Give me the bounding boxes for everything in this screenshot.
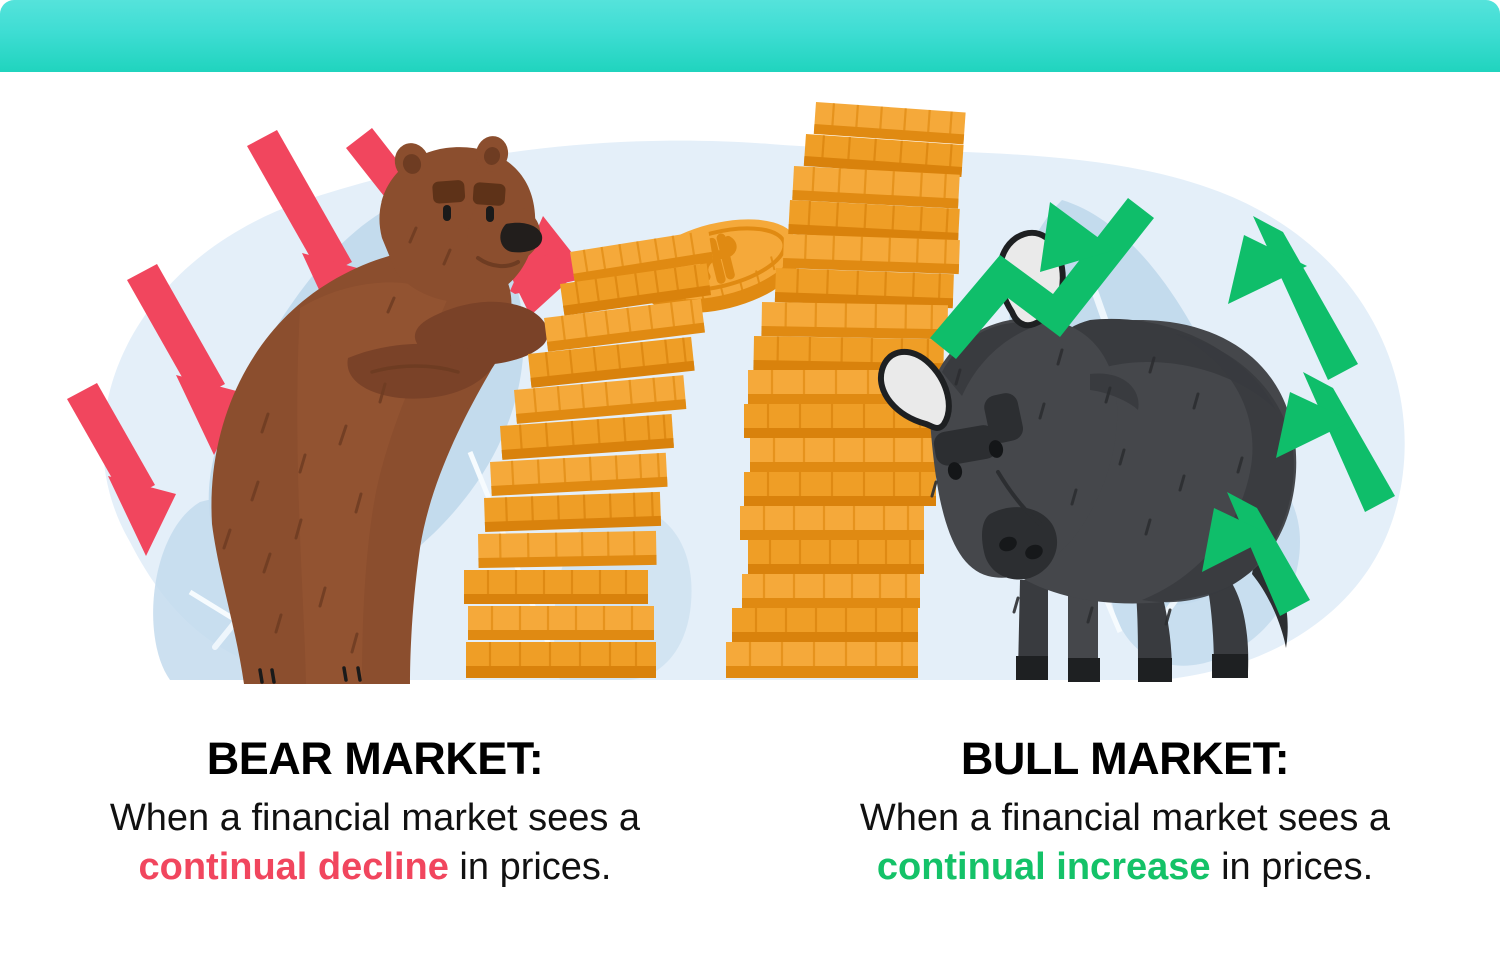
- bear-market-description: When a financial market sees a continual…: [30, 794, 720, 891]
- infographic-page: BEAR MARKET: When a financial market see…: [0, 0, 1500, 976]
- bear-eye-right: [486, 206, 494, 222]
- bear-market-title: BEAR MARKET:: [30, 735, 720, 782]
- bear-description-tail: in prices.: [449, 846, 612, 888]
- illustration-stage: [0, 72, 1500, 692]
- bull-market-description: When a financial market sees a continual…: [780, 794, 1470, 891]
- bear-description-line1: When a financial market sees a: [110, 797, 640, 839]
- bear-caption-column: BEAR MARKET: When a financial market see…: [0, 735, 750, 935]
- bull-hoof-3: [1138, 658, 1172, 682]
- bull-hoof-4: [1212, 654, 1248, 678]
- captions-row: BEAR MARKET: When a financial market see…: [0, 735, 1500, 935]
- bull-market-title: BULL MARKET:: [780, 735, 1470, 782]
- bull-description-tail: in prices.: [1211, 846, 1374, 888]
- bear-brow-left: [432, 180, 465, 204]
- bull-caption-column: BULL MARKET: When a financial market see…: [750, 735, 1500, 935]
- bull-description-highlight: continual increase: [877, 846, 1211, 888]
- bull-hoof-1: [1016, 656, 1048, 680]
- bull-description-line1: When a financial market sees a: [860, 797, 1390, 839]
- bear-description-highlight: continual decline: [138, 846, 448, 888]
- top-teal-bar: [0, 0, 1500, 72]
- bull-hoof-2: [1068, 658, 1100, 682]
- scene-svg: [0, 72, 1500, 692]
- bear-eye-left: [443, 205, 451, 221]
- bear-brow-right: [472, 182, 505, 206]
